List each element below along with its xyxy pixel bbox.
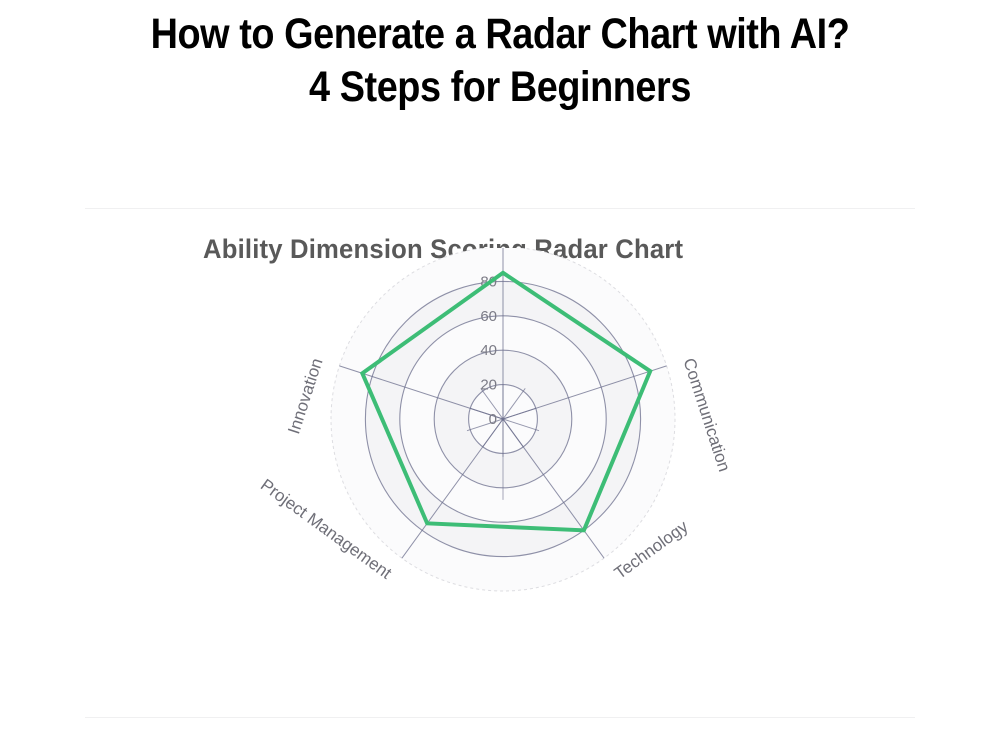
radar-tick-label-60: 60 <box>480 308 497 325</box>
radar-axis-label-innovation: Innovation <box>284 356 326 436</box>
radar-tick-label-20: 20 <box>480 377 497 394</box>
page-headline: How to Generate a Radar Chart with AI? 4… <box>60 8 940 114</box>
radar-tick-label-40: 40 <box>480 342 497 359</box>
card-divider-top <box>85 208 915 209</box>
radar-chart-card: Ability Dimension Scoring Radar Chart 02… <box>85 208 915 718</box>
radar-tick-label-0: 0 <box>489 411 497 428</box>
headline-line-1: How to Generate a Radar Chart with AI? <box>60 8 940 61</box>
headline-line-2: 4 Steps for Beginners <box>60 61 940 114</box>
radar-chart: 020406080 DesignCommunicationTechnologyP… <box>85 248 915 708</box>
card-divider-bottom <box>85 717 915 718</box>
radar-axis-label-communication: Communication <box>679 356 734 474</box>
